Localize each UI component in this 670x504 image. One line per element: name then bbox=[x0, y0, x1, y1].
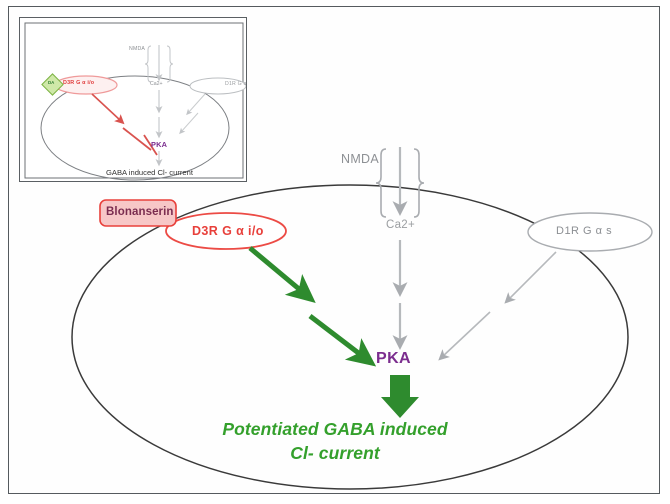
inset-d1r-to-pka-arrow-1 bbox=[188, 94, 205, 113]
d3r-to-pka-arrow-2 bbox=[310, 316, 365, 358]
inset-d3r-receptor-shape bbox=[55, 76, 117, 94]
d3r-receptor-shape bbox=[166, 213, 286, 249]
baseline-pathway-inset: DA NMDA Ca2+ D3R G α i/o D1R G α s PKA G… bbox=[19, 17, 247, 182]
d3r-to-pka-arrow-1 bbox=[250, 248, 305, 294]
d1r-to-pka-arrow-2 bbox=[442, 312, 490, 357]
inset-inner-border bbox=[25, 23, 243, 178]
figure-canvas: NMDA Ca2+ Blonanserin D3R G α i/o D1R G … bbox=[0, 0, 670, 504]
d1r-receptor-shape bbox=[528, 213, 652, 251]
blonanserin-box-shape bbox=[100, 200, 176, 226]
inset-d1r-to-pka-arrow-2 bbox=[181, 113, 198, 132]
inset-d3r-inhibition-arrow bbox=[92, 94, 121, 121]
inset-pathway-graphic bbox=[20, 18, 247, 182]
dopamine-diamond-icon bbox=[42, 74, 63, 95]
pka-to-outcome-arrow bbox=[381, 375, 419, 418]
d1r-to-pka-arrow-1 bbox=[508, 252, 556, 300]
inset-d1r-receptor-shape bbox=[190, 78, 246, 94]
